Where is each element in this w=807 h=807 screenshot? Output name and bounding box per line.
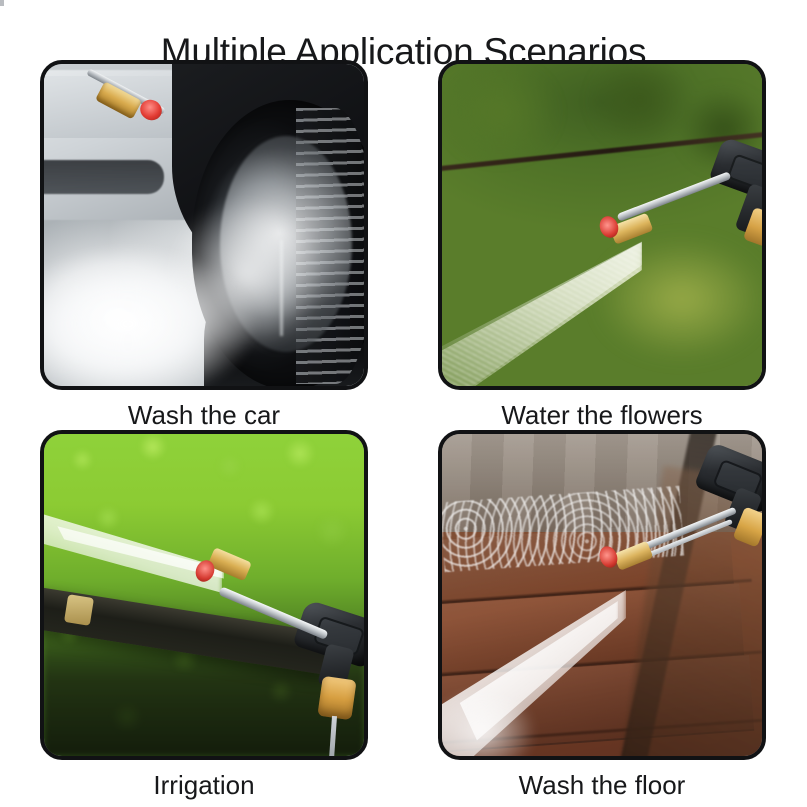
beam-end-cap bbox=[64, 594, 94, 626]
scenario-photo-water-the-flowers bbox=[438, 60, 766, 390]
scenario-caption-irrigation: Irrigation bbox=[40, 768, 368, 802]
scenario-grid: Wash the car bbox=[40, 60, 767, 805]
photo-stage bbox=[442, 434, 762, 756]
scenario-caption-wash-the-car: Wash the car bbox=[40, 398, 368, 432]
scenario-caption-water-the-flowers: Water the flowers bbox=[438, 398, 766, 432]
photo-stage bbox=[442, 64, 762, 386]
scenario-card-wash-the-car[interactable]: Wash the car bbox=[40, 60, 368, 432]
photo-stage bbox=[44, 434, 364, 756]
scenario-photo-wash-the-car bbox=[40, 60, 368, 390]
scenario-card-irrigation[interactable]: Irrigation bbox=[40, 430, 368, 802]
corner-artifact bbox=[0, 0, 4, 6]
photo-stage bbox=[44, 64, 364, 386]
splash-zone bbox=[442, 660, 572, 756]
scenario-card-wash-the-floor[interactable]: Wash the floor bbox=[438, 430, 766, 802]
scenario-card-water-the-flowers[interactable]: Water the flowers bbox=[438, 60, 766, 432]
infographic-root: Multiple Application Scenarios bbox=[0, 0, 807, 807]
scenario-caption-wash-the-floor: Wash the floor bbox=[438, 768, 766, 802]
scenario-photo-wash-the-floor bbox=[438, 430, 766, 760]
hose-connector bbox=[317, 676, 356, 720]
scenario-photo-irrigation bbox=[40, 430, 368, 760]
ground-mist bbox=[44, 214, 314, 386]
